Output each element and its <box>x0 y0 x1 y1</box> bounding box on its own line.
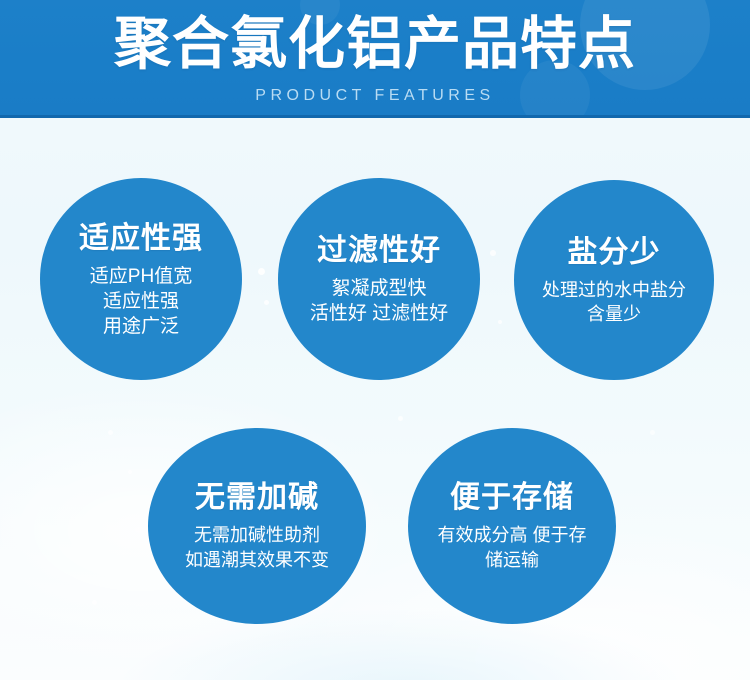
page-subtitle: PRODUCT FEATURES <box>0 86 750 106</box>
sparkle-icon <box>650 430 655 435</box>
feature-bubble-low-salt[interactable]: 盐分少 处理过的水中盐分 含量少 <box>514 180 714 380</box>
feature-body: 适应PH值宽 适应性强 用途广泛 <box>82 264 200 339</box>
sparkle-icon <box>490 250 496 256</box>
feature-bubble-filtration[interactable]: 过滤性好 絮凝成型快 活性好 过滤性好 <box>278 178 480 380</box>
sparkle-icon <box>108 430 113 435</box>
background-wash <box>120 610 680 680</box>
feature-body: 处理过的水中盐分 含量少 <box>534 278 694 326</box>
sparkle-icon <box>92 600 97 605</box>
feature-bubble-easy-storage[interactable]: 便于存储 有效成分高 便于存 储运输 <box>408 428 616 624</box>
page-title: 聚合氯化铝产品特点 <box>0 12 750 76</box>
header-banner: 聚合氯化铝产品特点 PRODUCT FEATURES <box>0 0 750 118</box>
feature-title: 适应性强 <box>79 220 203 258</box>
feature-bubble-no-alkali[interactable]: 无需加碱 无需加碱性助剂 如遇潮其效果不变 <box>148 428 366 624</box>
product-features-poster: 聚合氯化铝产品特点 PRODUCT FEATURES 适应性强 适应PH值宽 适… <box>0 0 750 680</box>
sparkle-icon <box>398 416 403 421</box>
sparkle-icon <box>264 300 269 305</box>
feature-title: 便于存储 <box>450 479 574 517</box>
sparkle-icon <box>128 470 132 474</box>
feature-title: 盐分少 <box>568 234 661 272</box>
feature-title: 过滤性好 <box>317 232 441 270</box>
feature-title: 无需加碱 <box>195 479 319 517</box>
feature-body: 无需加碱性助剂 如遇潮其效果不变 <box>177 523 337 573</box>
sparkle-icon <box>498 320 502 324</box>
sparkle-icon <box>258 268 265 275</box>
feature-bubble-adaptability[interactable]: 适应性强 适应PH值宽 适应性强 用途广泛 <box>40 178 242 380</box>
feature-body: 絮凝成型快 活性好 过滤性好 <box>302 276 456 326</box>
feature-body: 有效成分高 便于存 储运输 <box>429 523 594 573</box>
